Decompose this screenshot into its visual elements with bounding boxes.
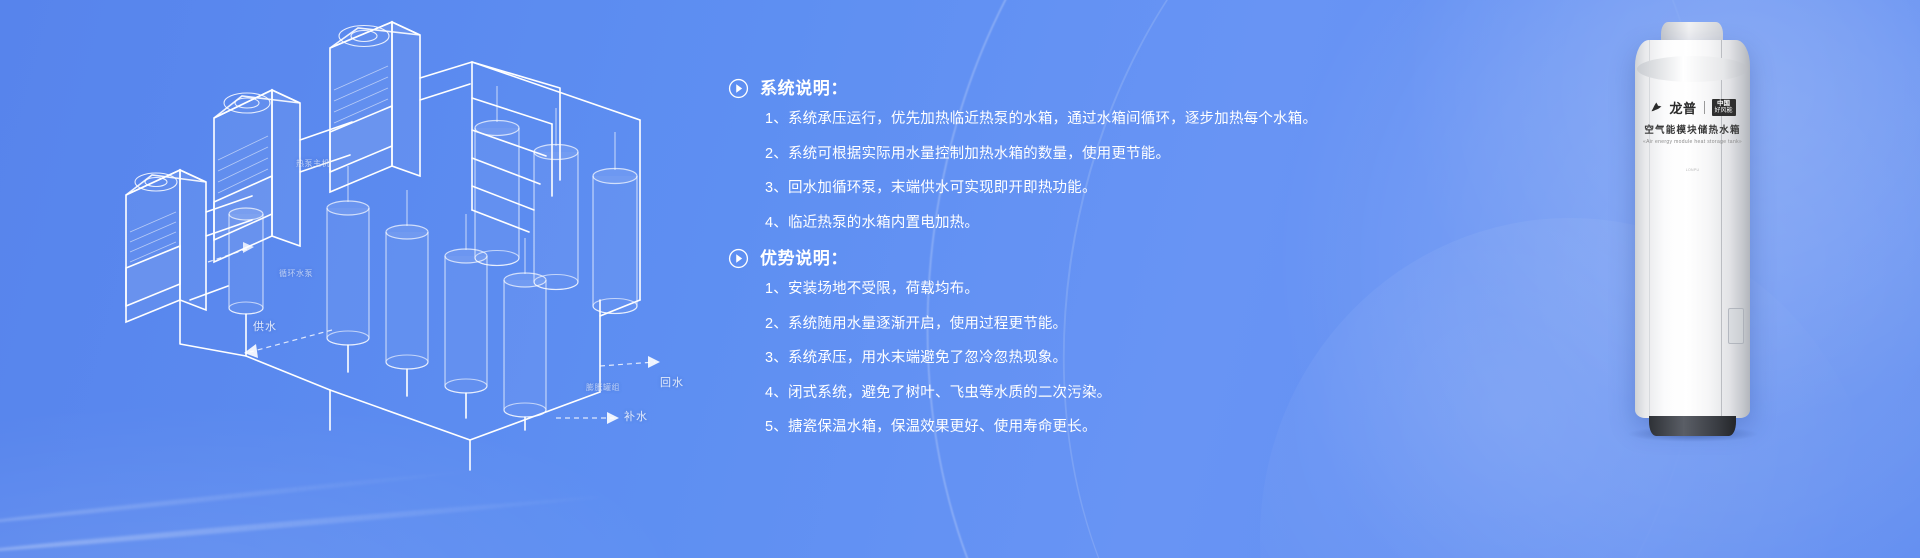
product-title-en: «Air energy module heat storage tank» [1635,139,1750,145]
list-item: 1、系统承压运行，优先加热临近热泵的水箱，通过水箱间循环，逐步加热每个水箱。 [728,112,1328,127]
section-system-description: 系统说明： 1、系统承压运行，优先加热临近热泵的水箱，通过水箱间循环，逐步加热每… [728,78,1328,230]
brand-badge: 中国 好风能 [1712,99,1736,116]
storage-tank [386,190,428,369]
list-item: 5、搪瓷保温水箱，保温效果更好、使用寿命更长。 [728,420,1328,435]
section-item-list: 1、安装场地不受限，荷载均布。 2、系统随用水量逐渐开启，使用过程更节能。 3、… [728,282,1328,435]
product-microtext: LONPU [1635,168,1750,172]
play-circle-icon [728,248,749,269]
tank-seam-left [1649,40,1650,418]
tank-control-panel [1728,308,1744,344]
brand-row: 龙普 中国 好风能 [1635,98,1750,117]
product-title-cn: 空气能模块储热水箱 [1635,122,1750,136]
play-circle-icon [728,78,749,99]
storage-tank [593,132,637,314]
product-image: 龙普 中国 好风能 空气能模块储热水箱 «Air energy module h… [1635,18,1750,436]
section-header: 优势说明： [728,248,1328,269]
section-advantage-description: 优势说明： 1、安装场地不受限，荷载均布。 2、系统随用水量逐渐开启，使用过程更… [728,248,1328,435]
list-item: 1、安装场地不受限，荷载均布。 [728,282,1328,297]
tank-body: 龙普 中国 好风能 空气能模块储热水箱 «Air energy module h… [1635,40,1750,418]
section-title: 系统说明： [760,80,848,97]
list-item: 3、系统承压，用水末端避免了忽冷忽热现象。 [728,351,1328,366]
diagram-label-inner-1: 循环水泵 [279,268,313,279]
section-title: 优势说明： [760,250,848,267]
tank-base [1649,416,1736,436]
diagram-label-makeup: 补水 [624,408,648,424]
product-label: 龙普 中国 好风能 空气能模块储热水箱 «Air energy module h… [1635,98,1750,145]
storage-tank [327,166,369,345]
heat-pump-unit-large [330,22,420,192]
storage-tank [475,86,519,266]
flow-arrow-makeup [556,412,619,424]
brand-divider [1704,101,1705,114]
flow-arrow-return [600,356,660,368]
list-item: 3、回水加循环泵，末端供水可实现即开即热功能。 [728,181,1328,196]
storage-tank-front-left [229,208,263,314]
list-item: 4、闭式系统，避免了树叶、飞虫等水质的二次污染。 [728,386,1328,401]
system-schematic-diagram: .ln { fill:none; stroke:#ffffff; stroke-… [0,0,720,558]
diagram-label-inner-3: 热泵主机 [296,158,330,169]
brand-badge-line2: 好风能 [1715,107,1733,114]
section-item-list: 1、系统承压运行，优先加热临近热泵的水箱，通过水箱间循环，逐步加热每个水箱。 2… [728,112,1328,230]
tank-seam-right [1721,40,1722,418]
description-content: 系统说明： 1、系统承压运行，优先加热临近热泵的水箱，通过水箱间循环，逐步加热每… [728,78,1328,435]
diagram-label-supply: 供水 [253,318,277,334]
list-item: 2、系统随用水量逐渐开启，使用过程更节能。 [728,317,1328,332]
brand-logo-icon [1649,100,1664,115]
list-item: 4、临近热泵的水箱内置电加热。 [728,216,1328,231]
tank-top-ellipse [1637,56,1748,82]
schematic-svg: .ln { fill:none; stroke:#ffffff; stroke-… [0,0,720,558]
storage-tank-row-back [475,86,637,314]
list-item: 2、系统可根据实际用水量控制加热水箱的数量，使用更节能。 [728,147,1328,162]
flow-arrow-supply [244,330,332,358]
diagram-label-inner-2: 膨胀罐组 [586,382,620,393]
tank-highlight [1665,40,1687,418]
diagram-label-return: 回水 [660,374,684,390]
brand-name: 龙普 [1669,98,1696,117]
section-header: 系统说明： [728,78,1328,99]
storage-tank [534,108,578,290]
